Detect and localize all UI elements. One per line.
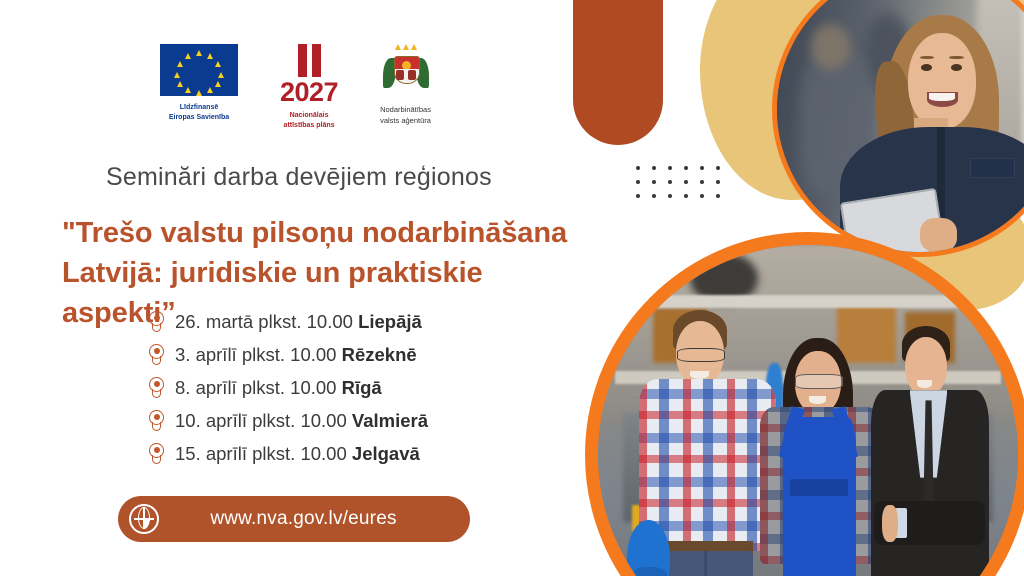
event-time: plkst. 10.00 — [242, 377, 337, 398]
worker-business-suit — [867, 333, 993, 576]
location-pin-icon — [148, 344, 165, 366]
nap-caption-line1: Nacionālais — [284, 111, 335, 121]
eu-flag-icon — [160, 44, 238, 96]
rust-pill-shape — [573, 0, 663, 145]
event-date: 3. aprīlī — [175, 344, 237, 365]
nva-caption-line1: Nodarbinātības — [380, 104, 431, 115]
event-time: plkst. 10.00 — [242, 344, 337, 365]
poster-canvas: Līdzfinansē Eiropas Savienība 2027 Nacio… — [0, 0, 1024, 576]
location-pin-icon — [148, 377, 165, 399]
event-date: 26. martā — [175, 311, 253, 332]
event-text: 15. aprīlī plkst. 10.00 Jelgavā — [175, 443, 420, 465]
event-text: 3. aprīlī plkst. 10.00 Rēzeknē — [175, 344, 417, 366]
event-text: 26. martā plkst. 10.00 Liepājā — [175, 311, 422, 333]
event-city: Valmierā — [352, 410, 428, 431]
list-item: 8. aprīlī plkst. 10.00 Rīgā — [148, 371, 428, 404]
list-item: 26. martā plkst. 10.00 Liepājā — [148, 305, 428, 338]
event-city: Rēzeknē — [342, 344, 417, 365]
event-list: 26. martā plkst. 10.00 Liepājā 3. aprīlī… — [148, 305, 428, 470]
website-url-label: www.nva.gov.lv/eures — [159, 508, 470, 530]
nap-logo-caption: Nacionālais attīstības plāns — [284, 111, 335, 131]
event-date: 15. aprīlī — [175, 443, 247, 464]
eu-logo-caption: Līdzfinansē Eiropas Savienība — [169, 103, 229, 123]
event-text: 10. aprīlī plkst. 10.00 Valmierā — [175, 410, 428, 432]
location-pin-icon — [148, 311, 165, 333]
location-pin-icon — [148, 443, 165, 465]
worker-blue-overalls — [758, 342, 884, 576]
nap-mark-icon — [298, 44, 321, 77]
website-url-button[interactable]: www.nva.gov.lv/eures — [118, 496, 470, 542]
logo-european-union: Līdzfinansē Eiropas Savienība — [160, 44, 238, 123]
list-item: 15. aprīlī plkst. 10.00 Jelgavā — [148, 437, 428, 470]
eu-caption-line1: Līdzfinansē — [169, 103, 229, 113]
logo-nva: Nodarbinātības valsts aģentūra — [380, 44, 431, 127]
event-text: 8. aprīlī plkst. 10.00 Rīgā — [175, 377, 382, 399]
nap-caption-line2: attīstības plāns — [284, 121, 335, 131]
event-time: plkst. 10.00 — [252, 410, 347, 431]
list-item: 3. aprīlī plkst. 10.00 Rēzeknē — [148, 338, 428, 371]
location-pin-icon — [148, 410, 165, 432]
nva-logo-caption: Nodarbinātības valsts aģentūra — [380, 104, 431, 127]
event-time: plkst. 10.00 — [258, 311, 353, 332]
logo-row: Līdzfinansē Eiropas Savienība 2027 Nacio… — [160, 44, 431, 131]
event-city: Liepājā — [358, 311, 422, 332]
photo-woman-with-tablet — [772, 0, 1024, 257]
logo-nap-2027: 2027 Nacionālais attīstības plāns — [280, 44, 338, 131]
subtitle-kicker: Seminări darba devējiem reģionos — [106, 163, 492, 192]
eu-caption-line2: Eiropas Savienība — [169, 113, 229, 123]
list-item: 10. aprīlī plkst. 10.00 Valmierā — [148, 404, 428, 437]
event-city: Rīgā — [342, 377, 382, 398]
event-date: 8. aprīlī — [175, 377, 237, 398]
page-title-line1: "Trešo valstu pilsoņu nodarbināšana — [62, 217, 567, 249]
globe-cursor-icon — [129, 504, 159, 534]
photo-three-workers — [585, 232, 1024, 576]
latvia-crest-icon — [383, 44, 429, 96]
event-city: Jelgavā — [352, 443, 420, 464]
nap-year-label: 2027 — [280, 79, 338, 106]
event-time: plkst. 10.00 — [252, 443, 347, 464]
dot-grid-pattern — [636, 166, 732, 208]
nva-caption-line2: valsts aģentūra — [380, 115, 431, 126]
event-date: 10. aprīlī — [175, 410, 247, 431]
